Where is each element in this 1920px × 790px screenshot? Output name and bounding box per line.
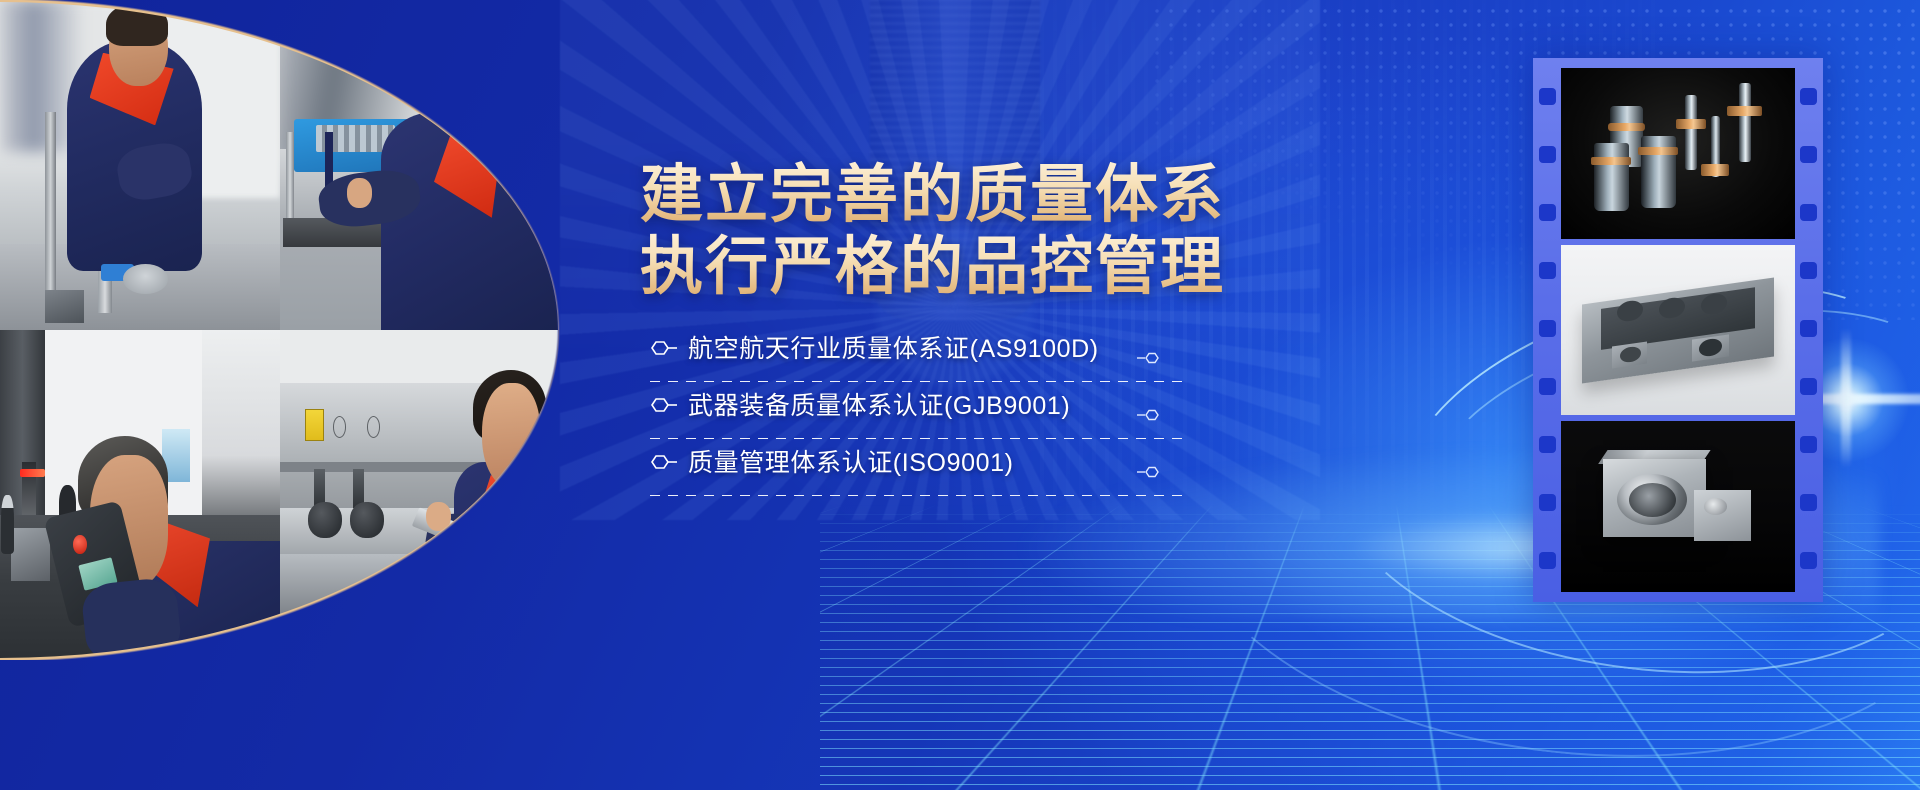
headline-line-2: 执行严格的品控管理 — [640, 232, 1300, 304]
hexagon-end-marker-icon — [1137, 407, 1163, 423]
certification-item[interactable]: 武器装备质量体系认证(GJB9001) — [650, 382, 1190, 439]
hexagon-end-marker-icon — [1137, 464, 1163, 480]
certification-divider — [650, 495, 1190, 496]
headline-block: 建立完善的质量体系 执行严格的品控管理 — [640, 160, 1300, 304]
product-photo-bottom[interactable] — [1561, 421, 1795, 592]
headline-line-1: 建立完善的质量体系 — [640, 160, 1300, 232]
certification-label: 武器装备质量体系认证(GJB9001) — [688, 386, 1070, 422]
hexagon-end-marker-icon — [1137, 350, 1163, 366]
flare-vertical-beam — [1841, 328, 1851, 468]
hexagon-bullet-icon — [650, 396, 680, 414]
certification-label: 航空航天行业质量体系证(AS9100D) — [688, 329, 1099, 365]
quality-system-banner: 建立完善的质量体系 执行严格的品控管理 航空航天行业质量体系证(AS9100D) — [0, 0, 1920, 790]
lens-flare-star-icon — [1845, 398, 1849, 402]
certification-list: 航空航天行业质量体系证(AS9100D) 武器装备质量体系认证(GJB9001) — [650, 325, 1190, 496]
hexagon-bullet-icon — [650, 453, 680, 471]
certification-label: 质量管理体系认证(ISO9001) — [688, 443, 1014, 479]
photo-collage — [0, 0, 560, 660]
product-filmstrip — [1533, 58, 1823, 602]
product-photo-middle[interactable] — [1561, 245, 1795, 416]
certification-item[interactable]: 航空航天行业质量体系证(AS9100D) — [650, 325, 1190, 382]
certification-item[interactable]: 质量管理体系认证(ISO9001) — [650, 439, 1190, 496]
product-photo-top[interactable] — [1561, 68, 1795, 239]
hexagon-bullet-icon — [650, 339, 680, 357]
